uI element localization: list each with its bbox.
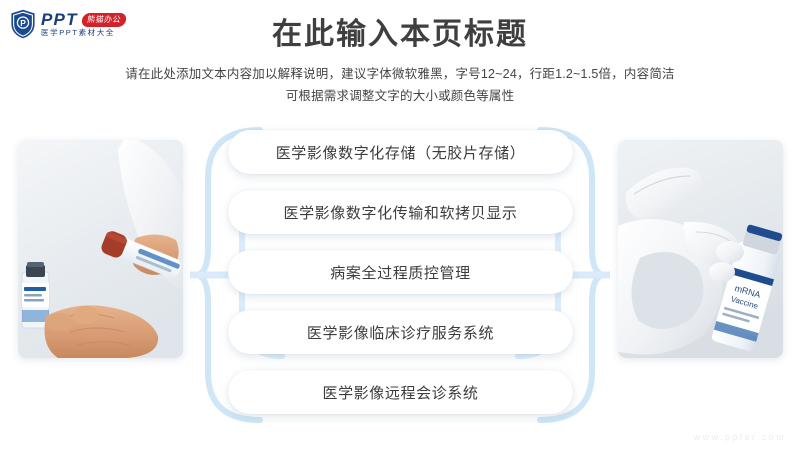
list-item-label: 医学影像数字化存储（无胶片存储） — [276, 142, 526, 163]
list-item-label: 医学影像数字化传输和软拷贝显示 — [283, 202, 517, 223]
slide-canvas: P PPT 熊猫办公 医学PPT素材大全 在此输入本页标题 请在此处添加文本内容… — [0, 0, 800, 450]
list-item[interactable]: 医学影像远程会诊系统 — [228, 370, 573, 414]
page-subtitle-line-2: 可根据需求调整文字的大小或颜色等属性 — [0, 86, 800, 106]
photo-left — [18, 140, 183, 358]
list-item-label: 病案全过程质控管理 — [330, 262, 470, 283]
list-item[interactable]: 病案全过程质控管理 — [228, 250, 573, 294]
list-item-label: 医学影像远程会诊系统 — [322, 382, 478, 403]
list-item[interactable]: 医学影像数字化传输和软拷贝显示 — [228, 190, 573, 234]
page-subtitle-line-1: 请在此处添加文本内容加以解释说明，建议字体微软雅黑，字号12~24，行距1.2~… — [0, 64, 800, 84]
feature-list: 医学影像数字化存储（无胶片存储） 医学影像数字化传输和软拷贝显示 病案全过程质控… — [228, 130, 573, 414]
site-watermark: www.ppter.com — [694, 432, 786, 442]
list-item[interactable]: 医学影像临床诊疗服务系统 — [228, 310, 573, 354]
list-item-label: 医学影像临床诊疗服务系统 — [307, 322, 494, 343]
page-title: 在此输入本页标题 — [0, 16, 800, 54]
list-item[interactable]: 医学影像数字化存储（无胶片存储） — [228, 130, 573, 174]
photo-right: mRNA Vaccine — [618, 140, 783, 358]
